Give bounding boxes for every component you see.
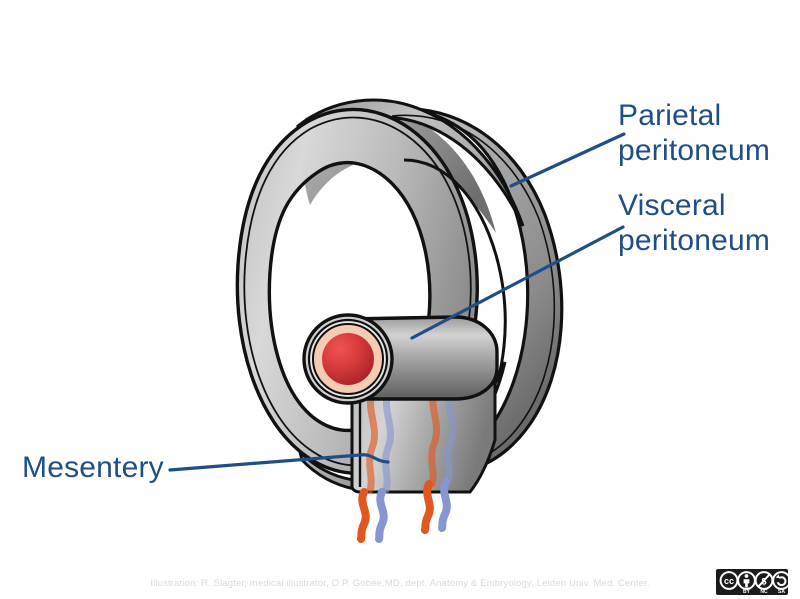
leader-line-parietal <box>511 134 624 186</box>
label-parietal-line2: peritoneum <box>618 134 770 167</box>
anatomy-illustration <box>0 0 800 599</box>
slide-canvas: Parietalperitoneum Visceralperitoneum Me… <box>0 0 800 599</box>
label-visceral-line2: peritoneum <box>618 224 770 257</box>
label-parietal-peritoneum: Parietalperitoneum <box>618 98 770 169</box>
mesenteric-artery-left <box>361 492 366 539</box>
label-visceral-peritoneum: Visceralperitoneum <box>618 188 770 259</box>
cc-license-badge[interactable]: cc $ BY NC SA <box>716 569 788 595</box>
svg-text:SA: SA <box>778 589 785 595</box>
label-parietal-line1: Parietal <box>618 99 721 132</box>
visceral-peritoneum-gut-tube <box>304 315 497 403</box>
mesenteric-artery-right <box>425 484 430 530</box>
gut-lumen <box>322 333 374 385</box>
label-mesentery-line1: Mesentery <box>22 451 164 484</box>
mesenteric-vein-right <box>442 482 447 528</box>
label-mesentery: Mesentery <box>22 450 164 485</box>
label-visceral-line1: Visceral <box>618 189 726 222</box>
svg-text:BY: BY <box>743 589 751 595</box>
mesenteric-vein-left <box>379 492 384 539</box>
svg-text:NC: NC <box>760 589 768 595</box>
cc-badge-captions: BY NC SA <box>743 589 785 595</box>
illustration-credit: Illustration: R. Slagter, medical illust… <box>0 578 800 589</box>
svg-text:cc: cc <box>724 576 734 586</box>
